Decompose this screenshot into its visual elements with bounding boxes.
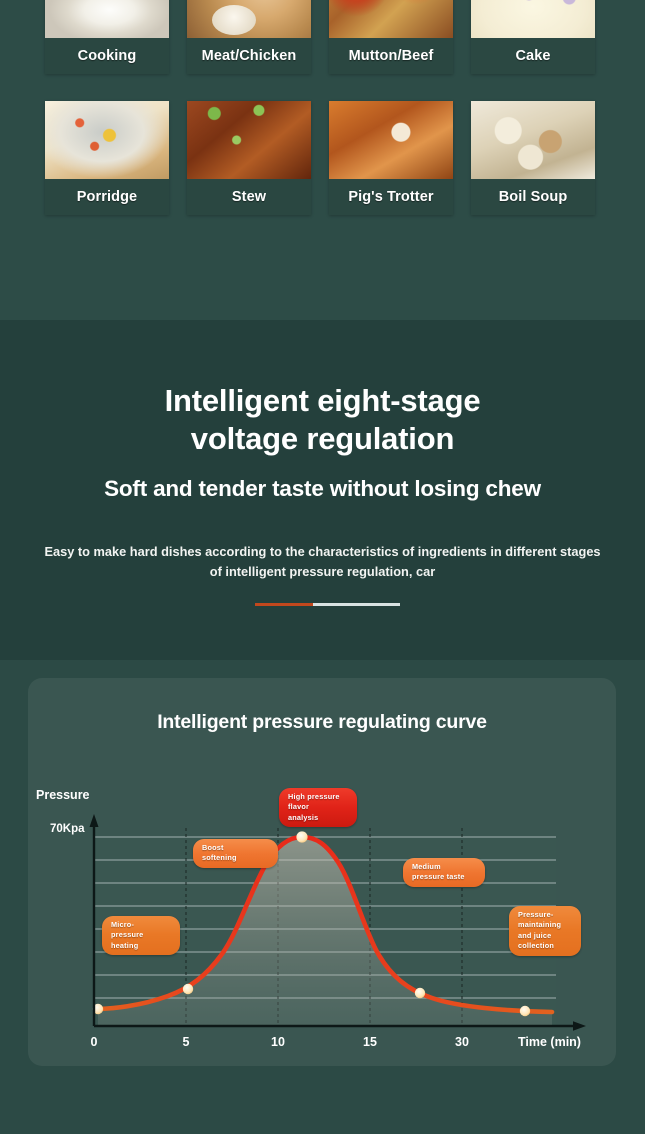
chart-plot-area: Pressure 70Kpa Time (min) 0 5 10 15 30 M… — [28, 678, 616, 1066]
x-axis-tick-0: 0 — [91, 1035, 98, 1049]
food-category-label: Cooking — [45, 38, 169, 74]
food-category-label: Meat/Chicken — [187, 38, 311, 74]
x-axis-arrow — [573, 1021, 586, 1031]
food-category-label: Mutton/Beef — [329, 38, 453, 74]
food-category-card[interactable]: Cooking — [45, 0, 169, 74]
pressure-curve-svg — [28, 678, 616, 1066]
divider-segment-inactive — [313, 603, 400, 606]
food-category-card[interactable]: Cake — [471, 0, 595, 74]
annotation-line: heating — [111, 941, 171, 951]
y-axis-max-tick: 70Kpa — [50, 823, 85, 835]
annotation-micro-pressure-heating: Micro- pressure heating — [102, 916, 180, 955]
food-category-card[interactable]: Mutton/Beef — [329, 0, 453, 74]
divider-segment-active — [255, 603, 313, 606]
y-axis-arrow — [90, 814, 99, 827]
food-category-label: Stew — [187, 179, 311, 215]
x-axis-tick-15: 15 — [363, 1035, 377, 1049]
annotation-line: maintaining — [518, 920, 572, 930]
food-thumbnail-image — [187, 0, 311, 38]
annotation-medium-pressure-taste: Medium pressure taste — [403, 858, 485, 887]
annotation-line: and juice — [518, 931, 572, 941]
x-axis-tick-30: 30 — [455, 1035, 469, 1049]
food-categories-section: CookingMeat/ChickenMutton/BeefCakePorrid… — [0, 0, 645, 320]
food-thumbnail-image — [329, 0, 453, 38]
x-axis-label: Time (min) — [518, 1035, 581, 1049]
annotation-line: Pressure- — [518, 910, 572, 920]
page-title: Intelligent eight-stage voltage regulati… — [0, 382, 645, 458]
headline-line-2: voltage regulation — [0, 420, 645, 458]
food-thumbnail-image — [187, 101, 311, 179]
annotation-line: analysis — [288, 813, 348, 823]
food-category-label: Porridge — [45, 179, 169, 215]
food-thumbnail-image — [45, 101, 169, 179]
food-category-card[interactable]: Stew — [187, 101, 311, 215]
annotation-line: softening — [202, 853, 269, 863]
annotation-line: Medium — [412, 862, 476, 872]
food-thumbnail-image — [471, 101, 595, 179]
food-category-card[interactable]: Porridge — [45, 101, 169, 215]
x-axis-tick-5: 5 — [183, 1035, 190, 1049]
food-category-grid: CookingMeat/ChickenMutton/BeefCakePorrid… — [45, 0, 600, 215]
annotation-line: flavor — [288, 802, 348, 812]
food-thumbnail-image — [329, 101, 453, 179]
food-thumbnail-image — [45, 0, 169, 38]
annotation-line: pressure taste — [412, 872, 476, 882]
annotation-line: Boost — [202, 843, 269, 853]
x-axis-tick-10: 10 — [271, 1035, 285, 1049]
food-category-card[interactable]: Meat/Chicken — [187, 0, 311, 74]
food-category-card[interactable]: Pig's Trotter — [329, 101, 453, 215]
annotation-high-pressure-flavor-analysis: High pressure flavor analysis — [279, 788, 357, 827]
food-category-label: Boil Soup — [471, 179, 595, 215]
annotation-line: collection — [518, 941, 572, 951]
annotation-line: Micro- — [111, 920, 171, 930]
food-category-label: Cake — [471, 38, 595, 74]
food-thumbnail-image — [471, 0, 595, 38]
food-category-label: Pig's Trotter — [329, 179, 453, 215]
promo-headline-section: Intelligent eight-stage voltage regulati… — [0, 320, 645, 660]
food-category-card[interactable]: Boil Soup — [471, 101, 595, 215]
annotation-boost-softening: Boost softening — [193, 839, 278, 868]
pressure-curve-card: Intelligent pressure regulating curve — [28, 678, 616, 1066]
headline-line-1: Intelligent eight-stage — [0, 382, 645, 420]
annotation-pressure-maintaining-juice-collection: Pressure- maintaining and juice collecti… — [509, 906, 581, 956]
section-divider — [255, 603, 400, 606]
promo-body-text: Easy to make hard dishes according to th… — [0, 542, 645, 582]
annotation-line: pressure — [111, 930, 171, 940]
annotation-line: High pressure — [288, 792, 348, 802]
promo-subheading: Soft and tender taste without losing che… — [0, 476, 645, 502]
y-axis-label: Pressure — [36, 788, 90, 802]
